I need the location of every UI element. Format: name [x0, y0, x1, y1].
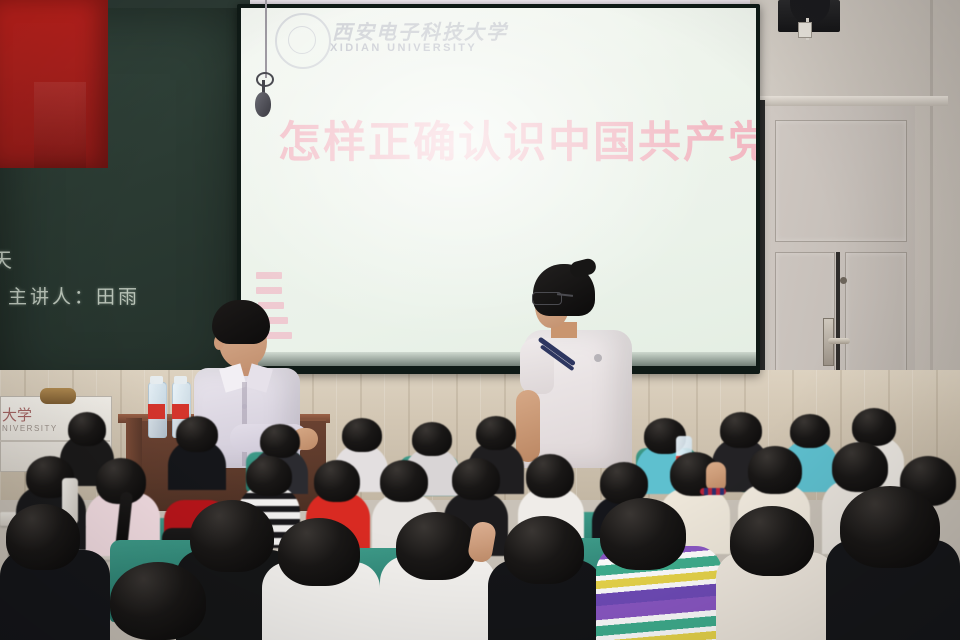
audience-head	[600, 498, 686, 570]
slide-logo-english: XIDIAN UNIVERSITY	[330, 42, 477, 54]
audience-head	[278, 518, 360, 586]
audience-head	[110, 562, 206, 640]
door-peephole-icon	[840, 277, 847, 284]
slide-dash-2	[256, 287, 282, 294]
standing-student-shirt-logo	[594, 354, 602, 362]
audience-head	[412, 422, 452, 456]
door-trim	[758, 96, 948, 106]
audience-head	[176, 416, 218, 452]
water-bottle-2-cap	[174, 376, 187, 384]
water-bottle-1-cap	[150, 376, 163, 384]
university-seal-inner	[288, 26, 316, 54]
red-banner-fold	[34, 82, 86, 168]
screen-bottom-shadow	[241, 352, 756, 366]
slide-dash-1	[256, 272, 282, 279]
audience-head	[476, 416, 516, 450]
audience-head	[790, 414, 830, 448]
audience-head	[452, 458, 500, 500]
audience-head	[840, 486, 940, 568]
audience-head	[396, 512, 476, 580]
slide-logo-chinese: 西安电子科技大学	[332, 16, 508, 45]
audience-head	[748, 446, 802, 494]
audience-head	[832, 442, 888, 492]
blackboard-text-line-1: 天	[0, 244, 15, 273]
lecture-hall-photo: 天 主讲人：田雨 西安电子科技大学 XIDIAN UNIVERSITY 怎样正确…	[0, 0, 960, 640]
slide-dash-5	[266, 332, 292, 339]
microphone-ring	[256, 72, 274, 87]
audience-area	[0, 400, 960, 640]
audience-head	[504, 516, 584, 584]
door-handle-icon[interactable]	[828, 338, 850, 344]
audience-head	[246, 456, 292, 496]
audience-head	[526, 454, 574, 498]
microphone-cable	[265, 0, 267, 78]
audience-head	[720, 412, 762, 448]
projection-screen: 西安电子科技大学 XIDIAN UNIVERSITY 怎样正确认识中国共产党	[241, 8, 756, 366]
door-panel-upper	[775, 120, 907, 242]
audience-head	[190, 500, 274, 572]
audience-head	[380, 460, 428, 502]
slide-title: 怎样正确认识中国共产党	[278, 108, 756, 170]
audience-head	[260, 424, 300, 458]
blackboard-text-line-2: 主讲人：田雨	[8, 282, 140, 309]
wall-seam	[930, 0, 933, 430]
microphone-icon	[255, 92, 271, 117]
beaded-bracelet	[700, 488, 726, 495]
audience-head	[730, 506, 814, 576]
speaker-hair	[212, 300, 270, 344]
audience-head	[6, 504, 80, 570]
audience-head	[852, 408, 896, 446]
audience-head	[342, 418, 382, 452]
audience-head	[68, 412, 106, 446]
audience-head	[314, 460, 360, 502]
device-label-tag	[798, 22, 812, 38]
